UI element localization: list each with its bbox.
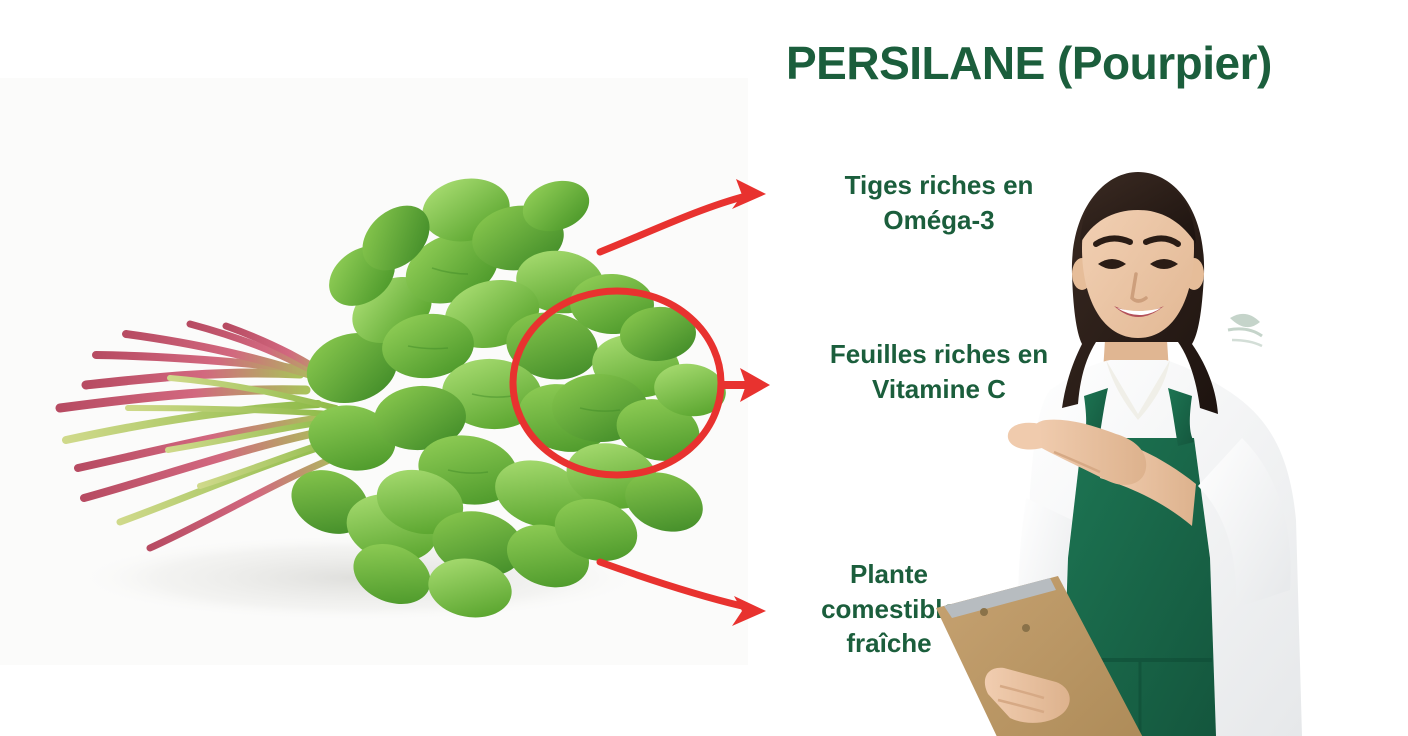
coat-logo [1228, 314, 1262, 346]
purslane-illustration [0, 78, 748, 665]
infographic-poster: PERSILANE (Pourpier) Tiges riches en Omé… [0, 0, 1408, 736]
page-title: PERSILANE (Pourpier) [786, 38, 1386, 89]
presenter-figure [930, 138, 1408, 736]
purslane-photo [0, 78, 748, 665]
presenter-illustration [930, 138, 1408, 736]
